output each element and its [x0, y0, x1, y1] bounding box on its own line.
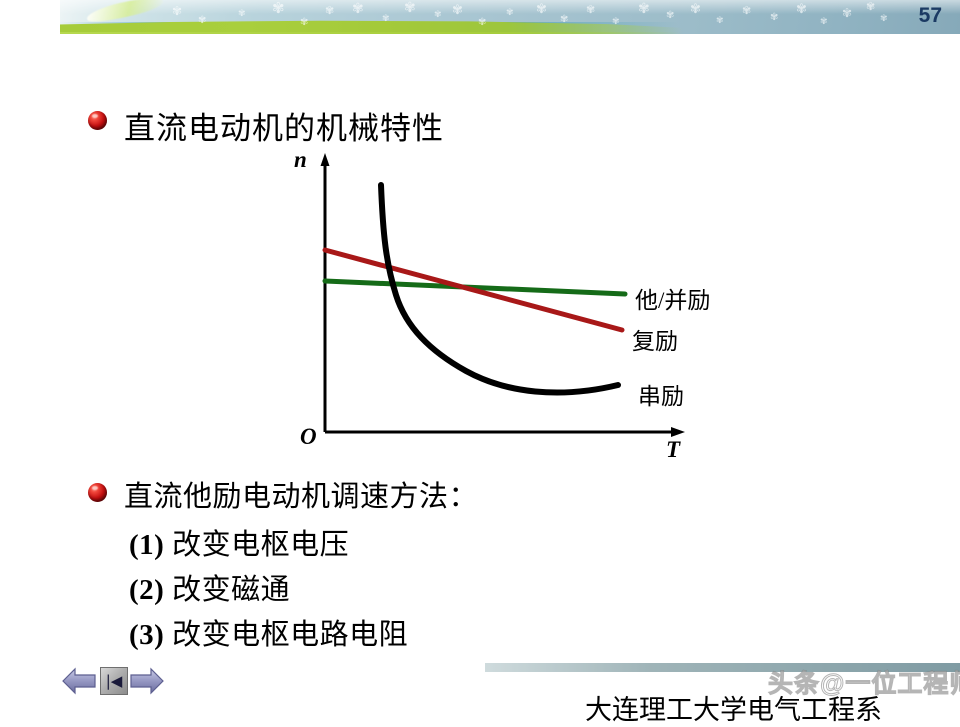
flower-icon: ✾: [325, 6, 334, 17]
flower-icon: ✾: [352, 3, 364, 17]
section-heading-speed-control: 直流他励电动机调速方法：: [124, 473, 478, 515]
flower-icon: ✾: [238, 9, 246, 18]
previous-slide-button[interactable]: [62, 666, 96, 696]
flower-icon: ✾: [690, 2, 701, 15]
flower-icon: ✾: [382, 14, 390, 23]
flower-icon: ✾: [586, 5, 595, 16]
slide-navigation: |◀: [62, 662, 172, 702]
list-item-number: (3): [129, 619, 164, 651]
first-slide-icon: |◀: [101, 668, 127, 694]
flower-icon: ✾: [716, 16, 724, 25]
flower-icon: ✾: [272, 2, 285, 17]
x-axis-arrowhead: [671, 427, 685, 437]
y-axis-arrowhead: [321, 153, 330, 166]
flower-icon: ✾: [842, 7, 852, 19]
page-number: 57: [919, 4, 942, 28]
flower-icon: ✾: [866, 2, 875, 13]
origin-label: O: [300, 424, 317, 450]
flower-icon: ✾: [796, 2, 807, 15]
mechanical-characteristics-chart: n T O 他/并励 复励 串励: [280, 145, 710, 470]
flower-icon: ✾: [478, 18, 486, 28]
first-slide-button[interactable]: |◀: [100, 667, 128, 695]
watermark-text: 头条@一位工程师: [768, 664, 960, 700]
legend-label-compound: 复励: [632, 322, 678, 356]
x-axis-label: T: [666, 437, 680, 463]
list-item: (1) 改变电枢电压: [129, 521, 349, 563]
flower-icon: ✾: [404, 2, 416, 16]
flower-icon: ✾: [742, 6, 751, 17]
flower-icon: ✾: [452, 3, 463, 16]
flower-icon: ✾: [880, 14, 888, 23]
page-title: 直流电动机的机械特性: [124, 103, 444, 148]
flower-icon: ✾: [434, 10, 442, 19]
list-item-number: (2): [129, 574, 164, 606]
flower-icon: ✾: [612, 17, 620, 26]
bullet-icon: [88, 483, 107, 502]
flower-icon: ✾: [536, 2, 547, 15]
flower-icon: ✾: [506, 8, 514, 17]
list-item-number: (1): [129, 529, 164, 561]
flower-icon: ✾: [300, 18, 308, 28]
flower-icon: ✾: [198, 16, 206, 26]
bullet-icon: [88, 111, 107, 130]
header-bottom-spacer: [0, 34, 960, 42]
flower-icon: ✾: [560, 15, 568, 25]
next-slide-button[interactable]: [130, 666, 164, 696]
list-item: (3) 改变电枢电路电阻: [129, 611, 408, 653]
list-item: (2) 改变磁通: [129, 566, 290, 608]
flower-icon: ✾: [820, 17, 828, 26]
flower-icon: ✾: [172, 5, 182, 17]
legend-label-shunt: 他/并励: [635, 281, 710, 315]
flower-icon: ✾: [638, 3, 650, 17]
legend-label-series-excited: 串励: [638, 377, 684, 411]
list-item-label: 改变电枢电压: [172, 529, 349, 561]
flower-icon: ✾: [770, 13, 778, 23]
list-item-label: 改变电枢电路电阻: [172, 619, 408, 651]
list-item-label: 改变磁通: [172, 574, 290, 606]
y-axis-label: n: [294, 147, 307, 173]
flower-icon: ✾: [666, 11, 674, 21]
